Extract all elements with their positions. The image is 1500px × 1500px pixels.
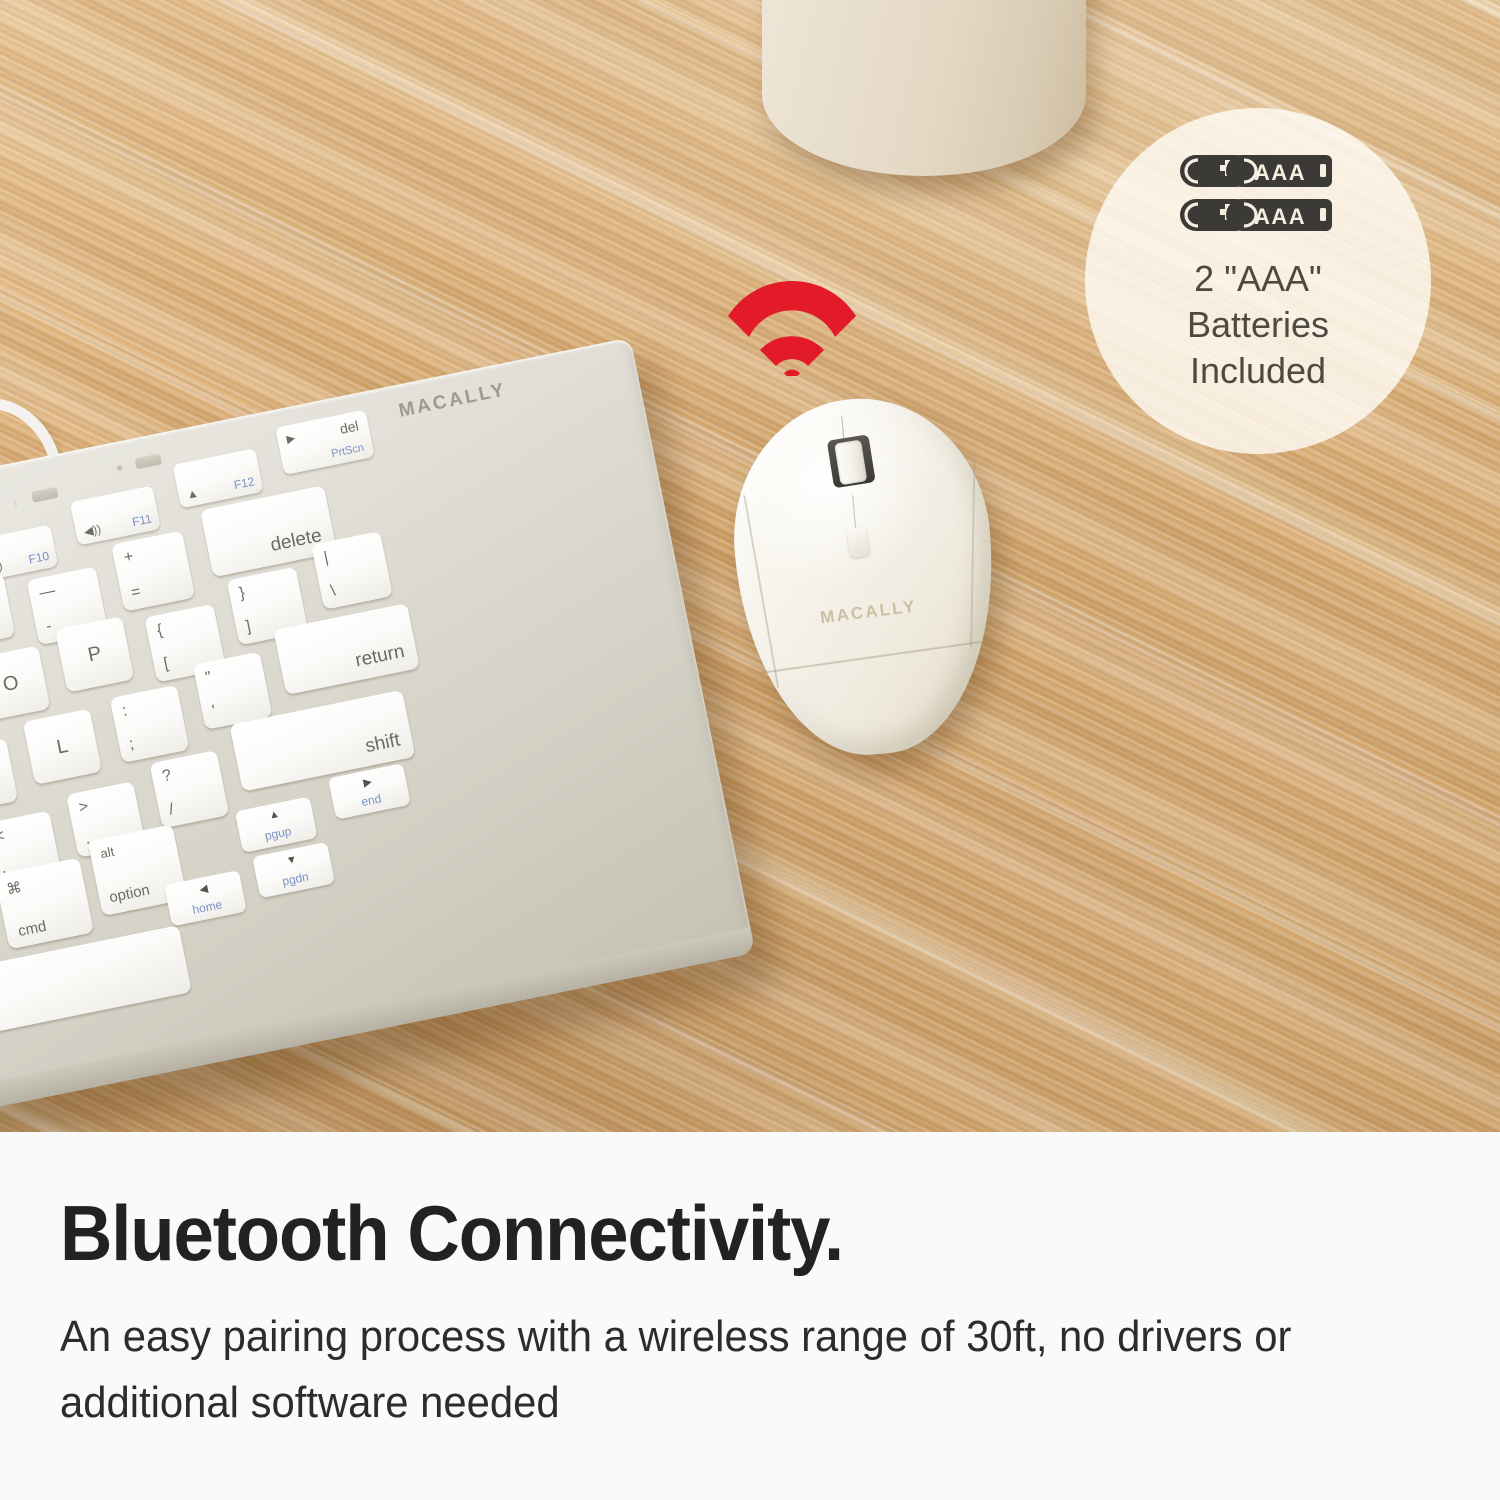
key-label: end	[360, 791, 382, 809]
key-shift-char: |	[322, 549, 330, 567]
key-shift-char: >	[77, 798, 90, 818]
key-char: [	[162, 655, 170, 674]
key-semicolon[interactable]: : ;	[110, 685, 190, 763]
key-char: O	[1, 672, 20, 695]
led-indicator-power	[134, 453, 162, 469]
badge-line-2: Batteries	[1187, 302, 1329, 348]
key-label: del	[338, 417, 360, 436]
battery-icon-group: AAA AAA	[1178, 152, 1338, 234]
batteries-included-badge: AAA AAA 2 "AAA" Batteries Included	[1085, 108, 1431, 454]
feature-subcopy: An easy pairing process with a wireless …	[60, 1304, 1333, 1438]
mouse-right-button-seam	[971, 461, 976, 647]
eject-icon: ▲	[185, 486, 199, 502]
key-shift-char: "	[204, 669, 213, 688]
key-pgup[interactable]: ▲ pgup	[235, 797, 318, 853]
key-char: \	[329, 582, 337, 601]
key-label: F12	[233, 474, 256, 492]
key-pgdn[interactable]: ▼ pgdn	[252, 842, 335, 898]
key-f10[interactable]: ◀) F10	[0, 525, 58, 581]
key-label: pgdn	[281, 869, 310, 888]
arrow-left-icon: ◀	[198, 882, 209, 896]
led-indicator-num	[31, 487, 59, 503]
product-feature-image: MACALLY ⎂ ⍛ ⎈ ▶‖ F7 ▶▶ F8 ◀	[0, 0, 1500, 1500]
key-p[interactable]: P	[55, 616, 134, 692]
battery-label: AAA	[1254, 204, 1306, 229]
key-label: return	[353, 641, 406, 672]
key-label: F11	[131, 512, 153, 530]
dpi-button[interactable]	[846, 526, 870, 559]
key-shift-char: :	[121, 702, 129, 721]
key-label: cmd	[17, 918, 48, 940]
command-icon: ⌘	[5, 878, 23, 899]
key-shift-char: {	[156, 622, 165, 641]
mouse-left-button-seam	[743, 495, 779, 688]
badge-text-block: 2 "AAA" Batteries Included	[1187, 256, 1329, 394]
signal-dot	[784, 370, 800, 376]
key-char: -	[45, 618, 54, 637]
ceramic-cup	[762, 0, 1086, 176]
battery-icon-2: AAA	[1178, 196, 1338, 234]
key-char: /	[168, 801, 176, 820]
key-char: L	[55, 736, 70, 758]
key-cmd[interactable]: ⌘ cmd	[0, 858, 94, 950]
key-shift-char: <	[0, 827, 6, 847]
keyboard-brand-logo: MACALLY	[397, 379, 509, 422]
key-char: P	[86, 643, 103, 665]
key-shift-char: —	[38, 582, 57, 603]
arrow-down-icon: ▼	[285, 853, 298, 867]
key-shift-char: +	[122, 548, 135, 568]
key-label: shift	[364, 730, 403, 759]
key-label: F10	[27, 549, 50, 567]
key-char: '	[211, 703, 218, 721]
mouse-shell-seam	[759, 640, 985, 674]
key-l[interactable]: L	[23, 709, 102, 785]
arrow-right-icon: ▶	[362, 775, 373, 789]
key-alt-label: alt	[99, 844, 115, 861]
key-sublabel: PrtScn	[330, 442, 365, 460]
key-label: pgup	[264, 824, 293, 843]
signal-arc-outer	[728, 281, 856, 337]
key-0[interactable]: ) 0	[0, 573, 15, 649]
key-shift-char: }	[238, 584, 247, 603]
signal-arc-inner	[760, 336, 824, 366]
key-char: =	[130, 583, 143, 603]
num-lock-icon: ⍛	[12, 496, 19, 508]
macally-keyboard: MACALLY ⎂ ⍛ ⎈ ▶‖ F7 ▶▶ F8 ◀	[0, 331, 799, 1132]
wireless-signal-icon	[722, 278, 862, 376]
macally-mouse: MACALLY	[722, 387, 1021, 781]
key-shift-char: ?	[161, 767, 173, 786]
badge-line-3: Included	[1187, 348, 1329, 394]
arrow-up-icon: ▲	[268, 808, 281, 822]
product-photo: MACALLY ⎂ ⍛ ⎈ ▶‖ F7 ▶▶ F8 ◀	[0, 0, 1500, 1132]
power-icon: ⎈	[115, 462, 124, 474]
mouse-brand-logo: MACALLY	[819, 597, 918, 629]
key-char: ]	[245, 618, 253, 637]
feature-text-panel: Bluetooth Connectivity. An easy pairing …	[0, 1132, 1500, 1500]
key-del-prtscn[interactable]: ▶ del PrtScn	[275, 410, 375, 475]
key-backslash[interactable]: | \	[311, 531, 393, 610]
key-label: home	[191, 897, 223, 917]
volume-up-icon: ◀))	[83, 522, 103, 539]
badge-line-1: 2 "AAA"	[1187, 256, 1329, 302]
key-slash[interactable]: ? /	[150, 750, 230, 828]
battery-icon-1: AAA	[1178, 152, 1338, 190]
volume-down-icon: ◀)	[0, 558, 4, 574]
key-o[interactable]: O	[0, 646, 51, 722]
feature-headline: Bluetooth Connectivity.	[60, 1194, 1334, 1274]
key-char: ;	[128, 736, 136, 755]
battery-label: AAA	[1254, 160, 1306, 185]
delete-forward-icon: ▶	[285, 431, 296, 445]
key-k[interactable]: K	[0, 738, 18, 814]
key-label: option	[108, 881, 151, 906]
key-equals[interactable]: + =	[111, 531, 195, 612]
